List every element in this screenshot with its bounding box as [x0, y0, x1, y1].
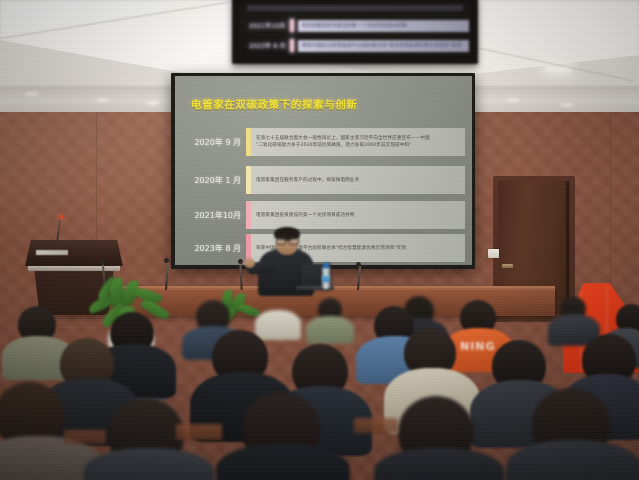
audience-shoulders [84, 448, 214, 480]
chair-back [354, 418, 398, 433]
chair-back [176, 424, 222, 440]
screenshot-root: 2021年10月 电管家集团投资建设的第一个光伏项目成功并网 2023年 8 月… [0, 0, 639, 480]
audience-shoulders [506, 440, 639, 480]
audience-shoulders [374, 448, 504, 480]
audience-shoulders [216, 444, 350, 480]
audience-front-row [0, 0, 639, 480]
chair-back [64, 430, 106, 444]
